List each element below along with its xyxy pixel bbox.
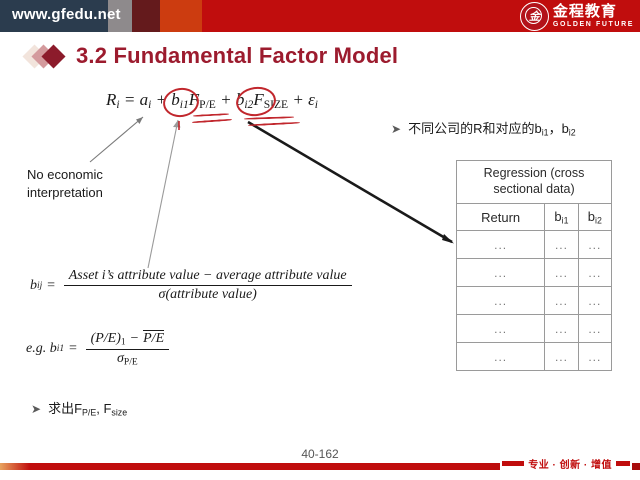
bullet-text-solve-sub1: P/E bbox=[82, 407, 96, 417]
bij-lhs-sub: ij bbox=[37, 281, 42, 291]
bullet-text-companies-main: 不同公司的R和对应的b bbox=[408, 121, 542, 136]
bij-definition-formula: bij = Asset i’s attribute value − averag… bbox=[30, 268, 356, 303]
brand-logo: 金 金程教育 GOLDEN FUTURE bbox=[520, 1, 634, 31]
arrow-bullet-icon: ➤ bbox=[391, 122, 401, 136]
bij-lhs: b bbox=[30, 278, 37, 294]
table-cell: ... bbox=[545, 259, 578, 287]
table-title-row: Regression (cross sectional data) bbox=[457, 161, 612, 204]
bullet-text-solve-sub2: size bbox=[111, 407, 127, 417]
formula-eq: = bbox=[124, 90, 135, 109]
eg-den-sigma: σ bbox=[117, 351, 124, 366]
tagline-bar-left bbox=[502, 461, 524, 466]
table-cell: ... bbox=[457, 315, 545, 343]
table-cell: ... bbox=[578, 259, 611, 287]
header-band-maroon bbox=[132, 0, 160, 32]
bij-denominator-arg: (attribute value) bbox=[165, 287, 256, 302]
eg-fraction: (P/E)1−P/E σP/E bbox=[86, 330, 170, 367]
formula-R-sub: i bbox=[116, 98, 119, 111]
eg-denominator: σP/E bbox=[112, 350, 143, 368]
bullet-text-companies-sub1: i1 bbox=[542, 127, 549, 137]
formula-R: R bbox=[106, 90, 116, 109]
header-underline bbox=[0, 32, 640, 35]
example-bi1-formula: e.g. bi1 = (P/E)1−P/E σP/E bbox=[26, 330, 173, 367]
table-cell: ... bbox=[457, 287, 545, 315]
bij-eq: = bbox=[46, 278, 55, 294]
table-col-bi2-label: b bbox=[588, 209, 595, 224]
bullet-item-solve-factors: ➤ 求出FP/E, Fsize bbox=[31, 398, 127, 417]
table-header-row: Return bi1 bi2 bbox=[457, 204, 612, 231]
brand-seal-icon: 金 bbox=[520, 2, 549, 31]
red-underline-2 bbox=[192, 119, 232, 124]
tagline-text: 专业 · 创新 · 增值 bbox=[528, 456, 612, 471]
bullet-text-solve: 求出FP/E, Fsize bbox=[48, 398, 127, 417]
brand-text: 金程教育 GOLDEN FUTURE bbox=[553, 4, 634, 28]
table-cell: ... bbox=[578, 287, 611, 315]
table-row: ... ... ... bbox=[457, 231, 612, 259]
red-underline-3 bbox=[244, 116, 294, 120]
arrow-bullet-icon: ➤ bbox=[31, 402, 41, 416]
main-factor-model-formula: Ri = ai + bi1FP/E + bi2FSIZE + εi bbox=[106, 90, 318, 111]
slide-title-row: 3.2 Fundamental Factor Model bbox=[26, 41, 398, 71]
regression-table: Regression (cross sectional data) Return… bbox=[456, 160, 612, 371]
brand-name-cn: 金程教育 bbox=[553, 4, 634, 19]
eg-num-left: (P/E) bbox=[91, 331, 121, 346]
no-economic-interpretation-note: No economic interpretation bbox=[27, 166, 147, 201]
table-cell: ... bbox=[545, 343, 578, 371]
tagline-bar-right bbox=[616, 461, 630, 466]
table-col-bi2-sub: i2 bbox=[595, 215, 602, 225]
red-underline-1 bbox=[193, 113, 229, 117]
bullet-text-companies: 不同公司的R和对应的bi1，bi2 bbox=[408, 118, 576, 137]
table-cell: ... bbox=[578, 343, 611, 371]
table-title-cell: Regression (cross sectional data) bbox=[457, 161, 612, 204]
eg-minus: − bbox=[130, 331, 139, 346]
table-row: ... ... ... bbox=[457, 343, 612, 371]
bij-numerator: Asset i’s attribute value − average attr… bbox=[64, 268, 352, 286]
eg-prefix: e.g. b bbox=[26, 341, 57, 357]
eg-den-sub: P/E bbox=[124, 357, 138, 367]
diamond-bullet-icon bbox=[26, 41, 74, 71]
table-cell: ... bbox=[578, 315, 611, 343]
table-cell: ... bbox=[545, 231, 578, 259]
eg-eq: = bbox=[68, 341, 77, 357]
bij-fraction: Asset i’s attribute value − average attr… bbox=[64, 268, 352, 303]
formula-plus-2: + bbox=[220, 90, 231, 109]
table-col-bi1: bi1 bbox=[545, 204, 578, 231]
bullet-text-solve-sep: , F bbox=[96, 401, 111, 416]
table-cell: ... bbox=[545, 315, 578, 343]
table-row: ... ... ... bbox=[457, 315, 612, 343]
formula-a-sub: i bbox=[148, 98, 151, 111]
table-cell: ... bbox=[578, 231, 611, 259]
bij-denominator: σ(attribute value) bbox=[154, 286, 262, 303]
table-col-bi2: bi2 bbox=[578, 204, 611, 231]
table-cell: ... bbox=[545, 287, 578, 315]
formula-epsilon: ε bbox=[308, 90, 315, 109]
brand-name-en: GOLDEN FUTURE bbox=[553, 21, 634, 28]
table-cell: ... bbox=[457, 343, 545, 371]
page-title: 3.2 Fundamental Factor Model bbox=[76, 43, 398, 69]
table-col-bi1-sub: i1 bbox=[562, 215, 569, 225]
table-row: ... ... ... bbox=[457, 259, 612, 287]
bullet-item-companies: ➤ 不同公司的R和对应的bi1，bi2 bbox=[391, 118, 576, 137]
table-col-bi1-label: b bbox=[554, 209, 561, 224]
formula-plus-3: + bbox=[292, 90, 303, 109]
red-underline-4 bbox=[248, 122, 300, 127]
bullet-text-solve-main: 求出F bbox=[48, 401, 82, 416]
formula-epsilon-sub: i bbox=[315, 98, 318, 111]
formula-a: a bbox=[140, 90, 149, 109]
top-header-bar: www.gfedu.net 金 金程教育 GOLDEN FUTURE bbox=[0, 0, 640, 32]
header-band-orange bbox=[160, 0, 202, 32]
bullet-text-companies-sub2: i2 bbox=[569, 127, 576, 137]
table-row: ... ... ... bbox=[457, 287, 612, 315]
eg-num-left-sub: 1 bbox=[121, 338, 126, 348]
table-col-return-label: Return bbox=[481, 210, 520, 225]
eg-num-right-overbar: P/E bbox=[143, 330, 164, 347]
table-cell: ... bbox=[457, 231, 545, 259]
site-url-text: www.gfedu.net bbox=[12, 6, 121, 23]
table-cell: ... bbox=[457, 259, 545, 287]
eg-numerator: (P/E)1−P/E bbox=[86, 330, 170, 350]
eg-prefix-sub: i1 bbox=[57, 344, 64, 354]
bullet-text-companies-sep: ，b bbox=[549, 121, 569, 136]
footer-tagline: 专业 · 创新 · 增值 bbox=[500, 455, 632, 472]
formula-f1-sub: P/E bbox=[199, 98, 216, 111]
table-col-return: Return bbox=[457, 204, 545, 231]
seal-glyph: 金 bbox=[521, 3, 548, 30]
